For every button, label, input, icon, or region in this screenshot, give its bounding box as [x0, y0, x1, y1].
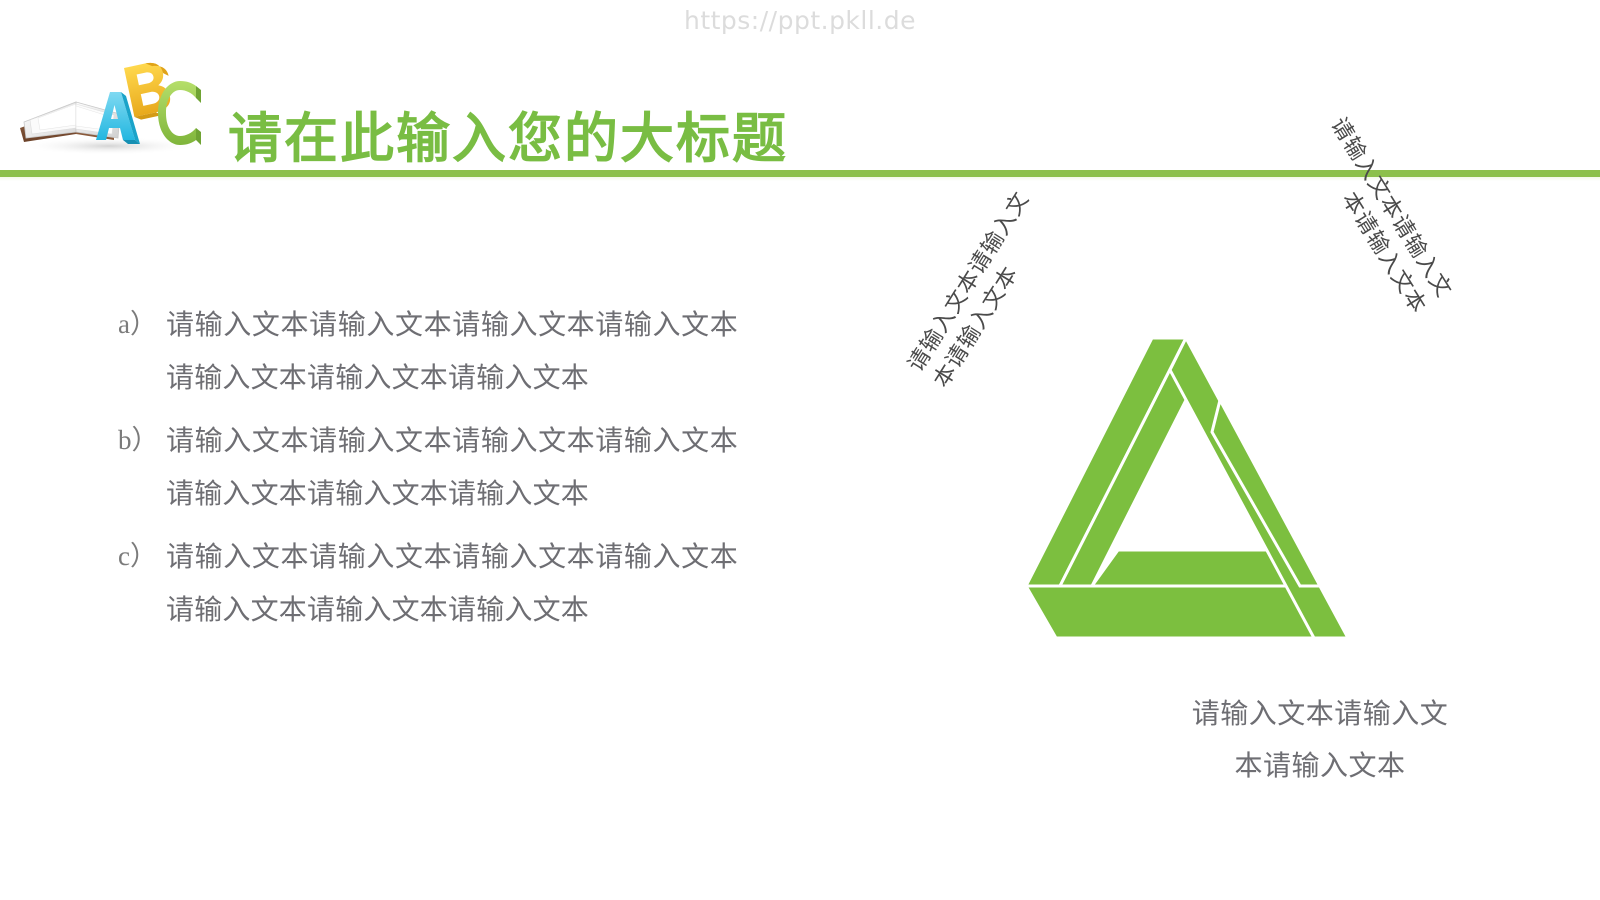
figure-column: 请输入文本请输入文 本请输入文本 请输入文本请输入文 本请输入文本 [760, 240, 1600, 860]
bullet-column: a） 请输入文本请输入文本请输入文本请输入文本请输入文本请输入文本请输入文本 b… [0, 240, 760, 860]
list-item-text: 请输入文本请输入文本请输入文本请输入文本请输入文本请输入文本请输入文本 [166, 298, 738, 404]
figure-caption: 请输入文本请输入文 本请输入文本 [960, 688, 1600, 792]
bullet-list: a） 请输入文本请输入文本请输入文本请输入文本请输入文本请输入文本请输入文本 b… [118, 298, 738, 646]
figure-caption-line1: 请输入文本请输入文 [1192, 697, 1449, 730]
list-item-marker: a） [118, 298, 166, 351]
site-watermark: https://ppt.pkll.de [0, 6, 1600, 35]
figure-caption-line2: 本请输入文本 [1234, 749, 1405, 782]
list-item: c） 请输入文本请输入文本请输入文本请输入文本请输入文本请输入文本请输入文本 [118, 530, 738, 636]
list-item: a） 请输入文本请输入文本请输入文本请输入文本请输入文本请输入文本请输入文本 [118, 298, 738, 404]
penrose-triangle-icon [1000, 328, 1360, 648]
list-item-marker: b） [118, 414, 166, 467]
slide-body: a） 请输入文本请输入文本请输入文本请输入文本请输入文本请输入文本请输入文本 b… [0, 240, 1600, 860]
list-item-marker: c） [118, 530, 166, 583]
list-item-text: 请输入文本请输入文本请输入文本请输入文本请输入文本请输入文本请输入文本 [166, 530, 738, 636]
list-item: b） 请输入文本请输入文本请输入文本请输入文本请输入文本请输入文本请输入文本 [118, 414, 738, 520]
abc-book-icon [14, 50, 214, 158]
page-title: 请在此输入您的大标题 [228, 94, 788, 173]
presentation-slide: https://ppt.pkll.de [0, 0, 1600, 900]
list-item-text: 请输入文本请输入文本请输入文本请输入文本请输入文本请输入文本请输入文本 [166, 414, 738, 520]
penrose-figure: 请输入文本请输入文 本请输入文本 请输入文本请输入文 本请输入文本 [900, 270, 1460, 670]
